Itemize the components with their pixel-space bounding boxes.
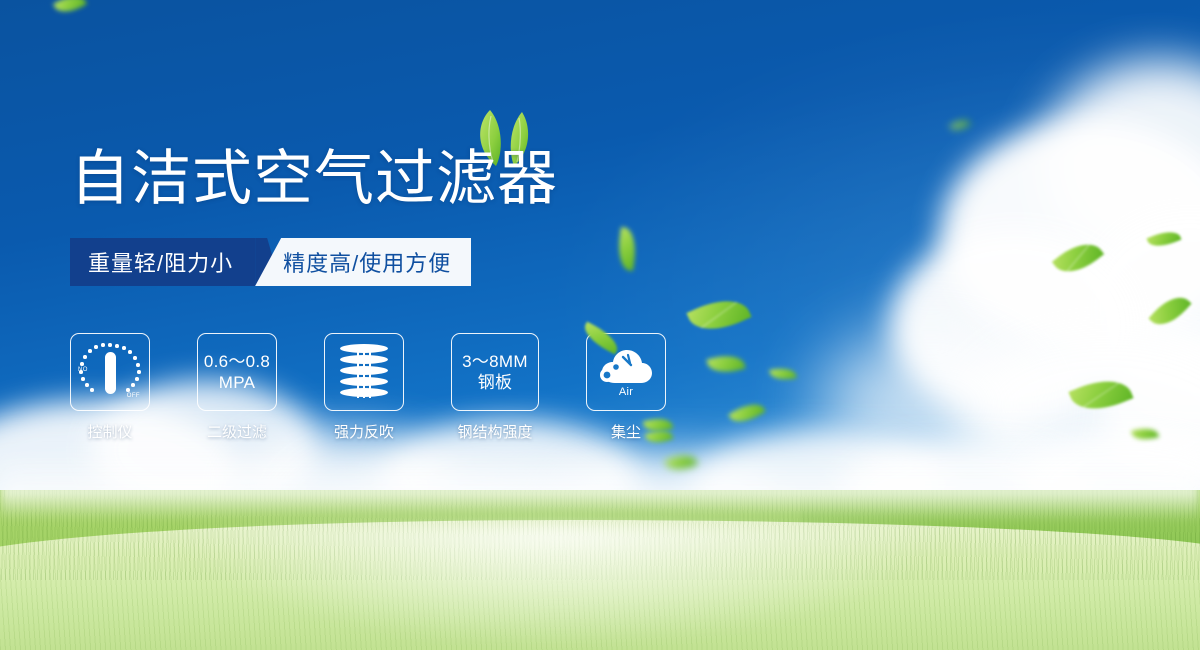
product-banner: 自洁式空气过滤器 重量轻/阻力小 精度高/使用方便 — [0, 0, 1200, 650]
feature-item[interactable]: 3～8MM 钢板 钢结构强度 — [451, 333, 539, 442]
feature-icon-box — [324, 333, 404, 411]
subtitle-right: 精度高/使用方便 — [255, 238, 471, 286]
feature-item[interactable]: 0.6～0.8 MPA 二级过滤 — [197, 333, 277, 442]
coil-filter-icon — [340, 344, 388, 400]
feature-icon-text-2: 钢板 — [478, 372, 513, 393]
page-title: 自洁式空气过滤器 — [70, 146, 558, 212]
gauge-needle — [105, 352, 116, 394]
subtitle-left: 重量轻/阻力小 — [70, 238, 255, 286]
gauge-label-no: NO — [78, 367, 88, 373]
grass-sheen — [180, 524, 940, 644]
gauge-icon: NO OFF — [79, 343, 141, 401]
feature-icon-box: Air — [586, 333, 666, 411]
feature-icon-box: 0.6～0.8 MPA — [197, 333, 277, 411]
subtitle-bar: 重量轻/阻力小 精度高/使用方便 — [70, 238, 471, 286]
feature-label: 钢结构强度 — [457, 421, 532, 442]
feature-icon-text: 0.6～0.8 — [204, 351, 270, 372]
air-label: Air — [619, 386, 633, 398]
gauge-label-off: OFF — [127, 393, 140, 399]
feature-item[interactable]: NO OFF 控制仪 — [70, 333, 150, 442]
feature-label: 二级过滤 — [207, 421, 267, 442]
feature-label: 强力反吹 — [334, 421, 394, 442]
feature-list: NO OFF 控制仪 0.6～0.8 MPA 二级过滤 — [70, 333, 666, 442]
feature-label: 控制仪 — [87, 421, 132, 442]
feature-item[interactable]: 强力反吹 — [324, 333, 404, 442]
feature-label: 集尘 — [611, 421, 641, 442]
grass-field — [0, 490, 1200, 650]
cloud-air-icon — [597, 345, 655, 389]
feature-icon-text: 3～8MM — [462, 351, 528, 372]
grass-horizon-fade — [0, 490, 1200, 520]
feature-icon-box: 3～8MM 钢板 — [451, 333, 539, 411]
feature-icon-box: NO OFF — [70, 333, 150, 411]
feature-icon-text-2: MPA — [219, 372, 255, 393]
